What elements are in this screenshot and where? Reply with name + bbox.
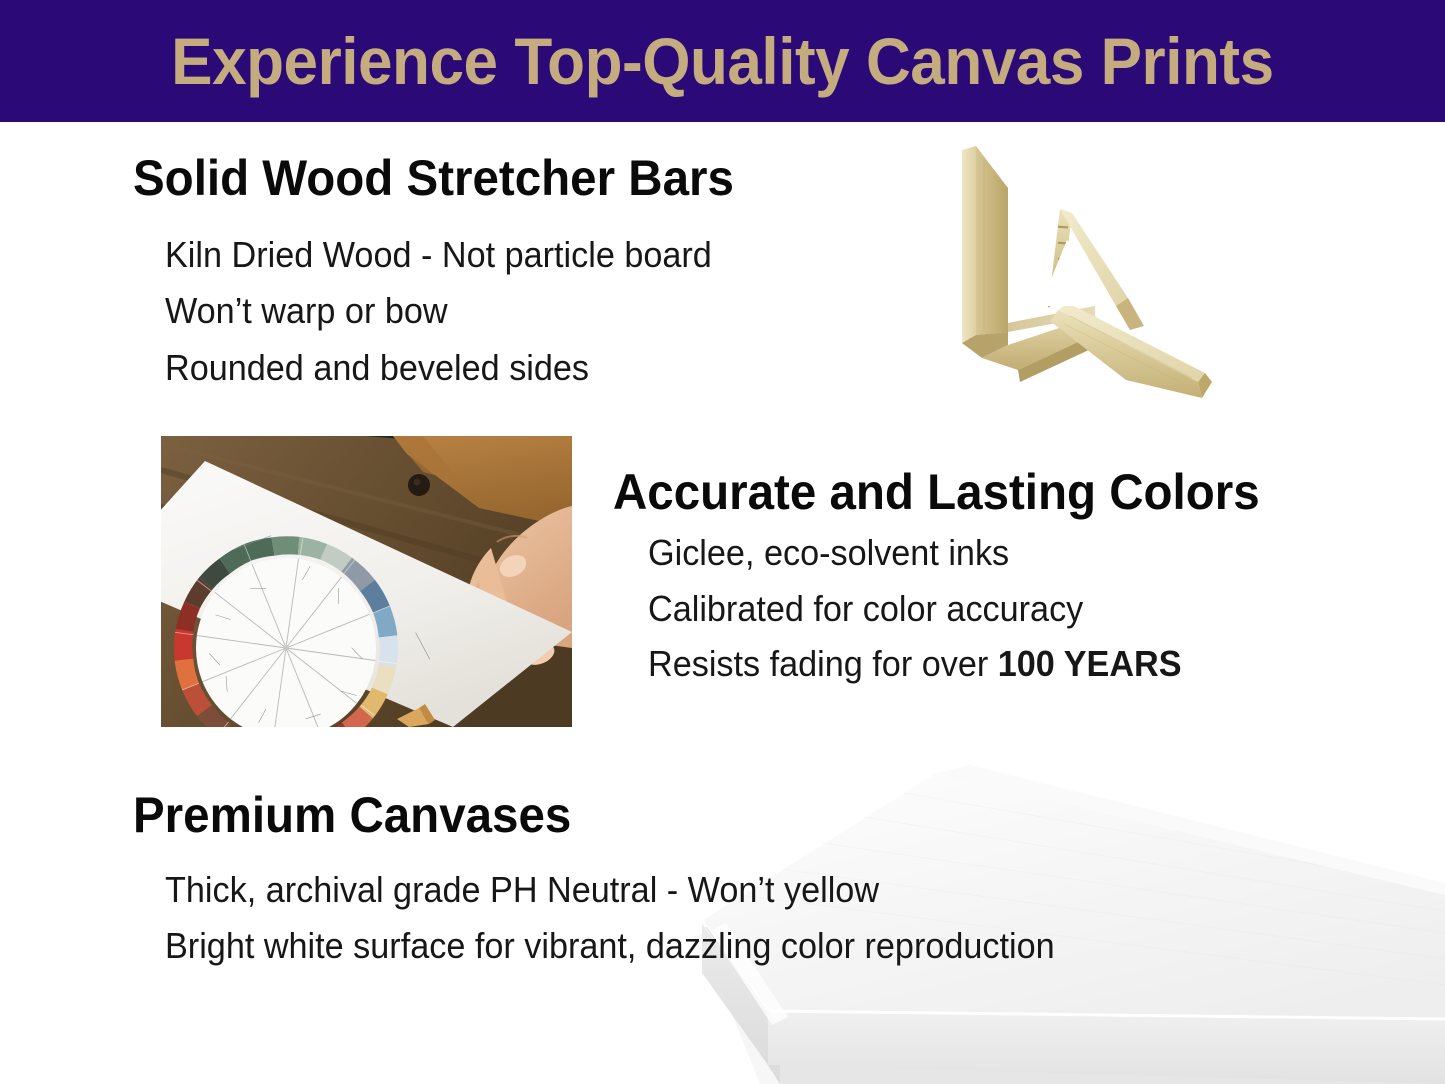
section-heading-solid-wood-stretcher-bars: Solid Wood Stretcher Bars (133, 152, 734, 205)
color-wheel-on-desk-photo: ____ ____ ____ ____ ____ ____ ____ ____ … (161, 436, 572, 727)
section-2-line-2: Calibrated for color accuracy (648, 591, 1083, 627)
section-heading-premium-canvases: Premium Canvases (133, 789, 571, 842)
section-3-line-1: Thick, archival grade PH Neutral - Won’t… (165, 872, 879, 908)
header-banner: Experience Top-Quality Canvas Prints (0, 0, 1445, 122)
section-1-line-3: Rounded and beveled sides (165, 350, 589, 386)
svg-text:____: ____ (220, 676, 228, 693)
section-heading-accurate-and-lasting-colors: Accurate and Lasting Colors (613, 466, 1260, 519)
section-2-line-3-text: Resists fading for over (648, 643, 998, 684)
wood-bars-illustration (930, 130, 1230, 415)
section-3-line-2: Bright white surface for vibrant, dazzli… (165, 928, 1055, 964)
section-2-line-3-emphasis: 100 YEARS (998, 643, 1182, 684)
section-2-line-3: Resists fading for over 100 YEARS (648, 646, 1182, 682)
page-title: Experience Top-Quality Canvas Prints (171, 28, 1273, 94)
svg-text:____: ____ (332, 588, 339, 605)
color-wheel-illustration: ____ ____ ____ ____ ____ ____ ____ ____ … (161, 436, 572, 727)
section-1-line-2: Won’t warp or bow (165, 293, 448, 329)
section-2-line-1: Giclee, eco-solvent inks (648, 535, 1009, 571)
section-1-line-1: Kiln Dried Wood - Not particle board (165, 237, 712, 273)
svg-text:____: ____ (250, 582, 267, 589)
infographic-page: Experience Top-Quality Canvas Prints (0, 0, 1445, 1084)
wooden-stretcher-bars-photo (930, 130, 1230, 415)
